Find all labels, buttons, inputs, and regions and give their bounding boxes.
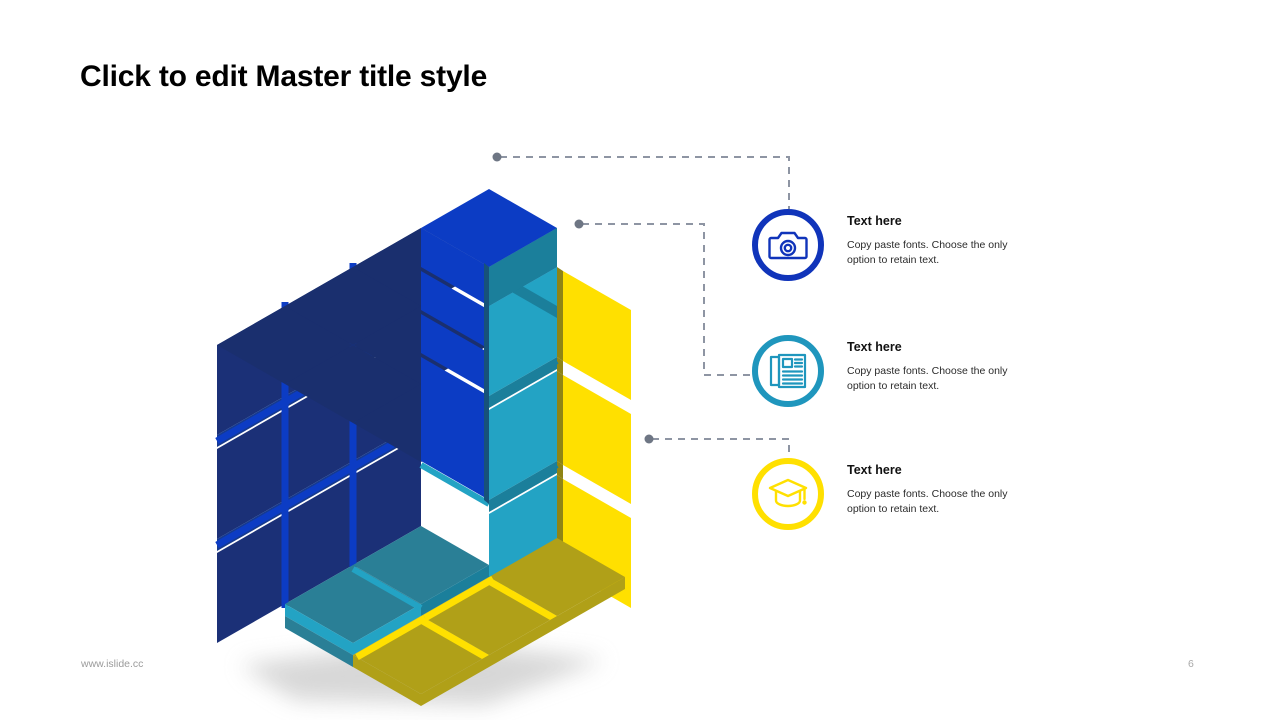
footer-url[interactable]: www.islide.cc xyxy=(81,658,143,670)
graduation-cap-icon[interactable] xyxy=(752,458,824,530)
camera-icon[interactable] xyxy=(752,209,824,281)
page-number: 6 xyxy=(1188,658,1194,670)
newspaper-icon[interactable] xyxy=(752,335,824,407)
item-title: Text here xyxy=(847,215,1022,229)
item-text-block: Text here Copy paste fonts. Choose the o… xyxy=(847,335,1022,394)
item-text-block: Text here Copy paste fonts. Choose the o… xyxy=(847,209,1022,268)
slide-canvas: Click to edit Master title style xyxy=(0,0,1280,720)
item-title: Text here xyxy=(847,464,1022,478)
list-item[interactable]: Text here Copy paste fonts. Choose the o… xyxy=(752,209,1022,281)
list-item[interactable]: Text here Copy paste fonts. Choose the o… xyxy=(752,458,1022,530)
isometric-cube-illustration xyxy=(185,100,685,720)
item-body: Copy paste fonts. Choose the only option… xyxy=(847,364,1022,394)
item-title: Text here xyxy=(847,341,1022,355)
cube-blue-teal-edge xyxy=(484,263,489,504)
list-item[interactable]: Text here Copy paste fonts. Choose the o… xyxy=(752,335,1022,407)
item-body: Copy paste fonts. Choose the only option… xyxy=(847,238,1022,268)
item-text-block: Text here Copy paste fonts. Choose the o… xyxy=(847,458,1022,517)
item-body: Copy paste fonts. Choose the only option… xyxy=(847,487,1022,517)
page-title: Click to edit Master title style xyxy=(80,60,487,94)
cube-yellow-edge xyxy=(553,263,559,569)
